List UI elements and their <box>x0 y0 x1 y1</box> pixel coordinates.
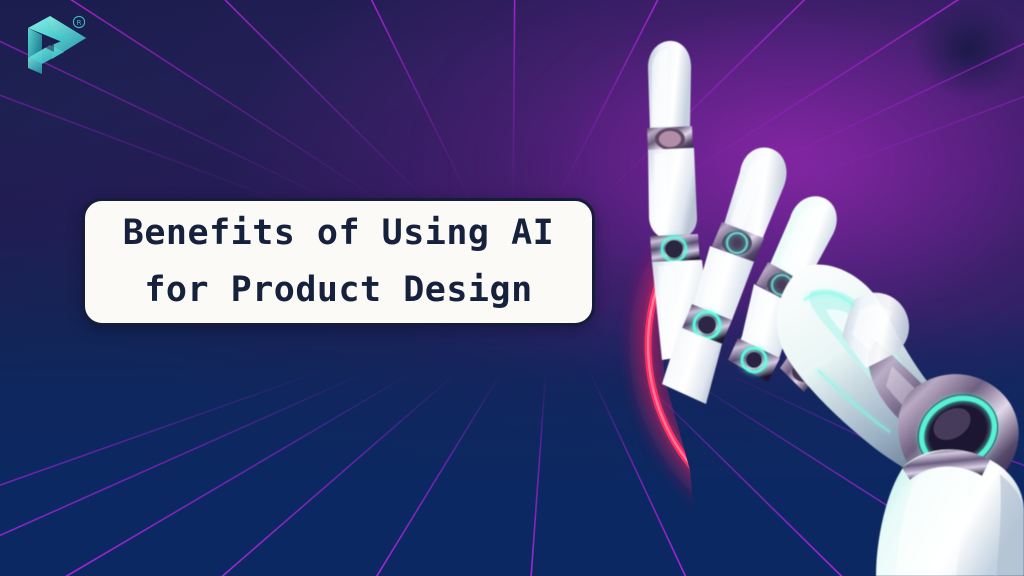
hero-title-card: Benefits of Using AI for Product Design <box>82 198 595 326</box>
registered-trademark-icon: R <box>72 15 86 29</box>
robot-forearm <box>876 450 1024 576</box>
robotic-hand-image <box>604 0 1024 576</box>
hero-title-line-2: for Product Design <box>144 273 532 308</box>
svg-text:R: R <box>77 19 82 27</box>
hero-banner: R Benefits of Using AI for Product Desig… <box>0 0 1024 576</box>
hero-title-line-1: Benefits of Using AI <box>123 216 554 251</box>
